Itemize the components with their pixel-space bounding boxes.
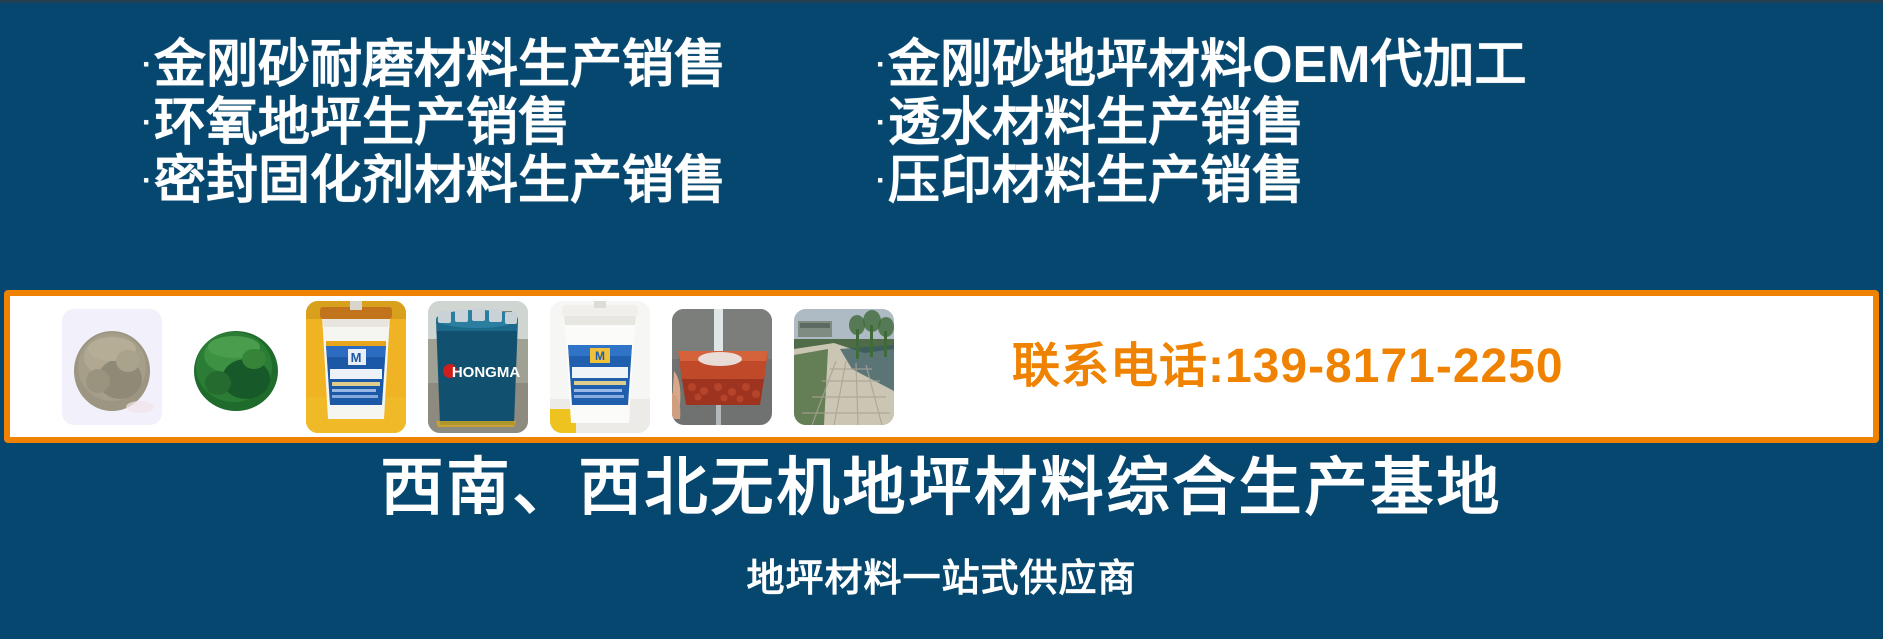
feature-label: 密封固化剂材料生产销售: [154, 152, 726, 210]
svg-text:M: M: [351, 350, 362, 365]
feature-label: 金刚砂耐磨材料生产销售: [154, 36, 726, 94]
feature-label: 金刚砂地坪材料OEM代加工: [888, 36, 1526, 94]
page-subtitle: 地坪材料一站式供应商: [0, 555, 1883, 603]
feature-item: · 金刚砂地坪材料OEM代加工: [876, 36, 1883, 94]
contact-phone[interactable]: 联系电话:139-8171-2250: [1012, 343, 1564, 391]
bullet-icon: ·: [142, 36, 152, 94]
banner-top-edge: [0, 0, 1883, 3]
gray-abrasive-powder-photo: [62, 309, 162, 425]
sealer-bucket-photo: M: [306, 301, 406, 433]
epoxy-coating-bucket-photo: M: [550, 301, 650, 433]
svg-text:M: M: [595, 349, 605, 363]
bullet-icon: ·: [142, 94, 152, 152]
feature-column-left: · 金刚砂耐磨材料生产销售 · 环氧地坪生产销售 · 密封固化剂材料生产销售: [0, 36, 860, 236]
stamped-concrete-path-photo: [794, 309, 894, 425]
feature-label: 环氧地坪生产销售: [154, 94, 570, 152]
feature-item: · 压印材料生产销售: [876, 152, 1883, 210]
hongma-blue-drum-photo: HONGMA: [428, 301, 528, 433]
feature-label: 透水材料生产销售: [888, 94, 1304, 152]
bullet-icon: ·: [142, 152, 152, 210]
feature-item: · 金刚砂耐磨材料生产销售: [142, 36, 860, 94]
bullet-icon: ·: [876, 94, 886, 152]
bullet-icon: ·: [876, 36, 886, 94]
bullet-icon: ·: [876, 152, 886, 210]
product-panel: M: [4, 290, 1879, 443]
feature-item: · 环氧地坪生产销售: [142, 94, 860, 152]
feature-lists: · 金刚砂耐磨材料生产销售 · 环氧地坪生产销售 · 密封固化剂材料生产销售 ·…: [0, 36, 1883, 236]
permeable-concrete-sample-photo: [672, 309, 772, 425]
feature-item: · 密封固化剂材料生产销售: [142, 152, 860, 210]
svg-text:HONGMA: HONGMA: [452, 364, 520, 381]
green-abrasive-powder-photo: [184, 309, 284, 425]
promo-banner: · 金刚砂耐磨材料生产销售 · 环氧地坪生产销售 · 密封固化剂材料生产销售 ·…: [0, 0, 1883, 639]
page-title: 西南、西北无机地坪材料综合生产基地: [0, 450, 1883, 526]
feature-column-right: · 金刚砂地坪材料OEM代加工 · 透水材料生产销售 · 压印材料生产销售: [860, 36, 1883, 236]
feature-label: 压印材料生产销售: [888, 152, 1304, 210]
feature-item: · 透水材料生产销售: [876, 94, 1883, 152]
product-thumbnail-strip: M: [62, 301, 894, 433]
